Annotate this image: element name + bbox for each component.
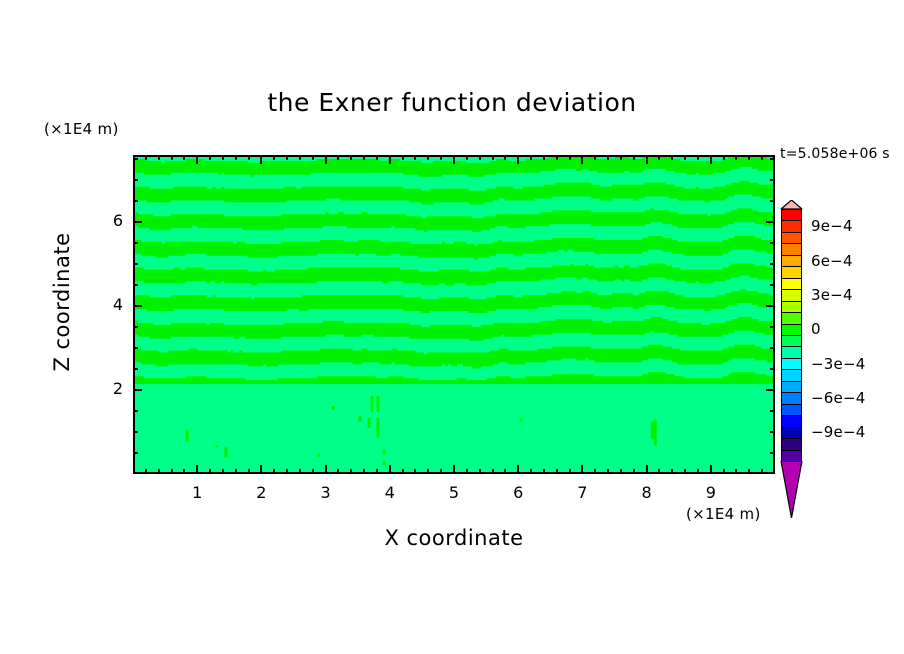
y-tick-minor-right <box>770 410 775 412</box>
x-tick-minor-top <box>350 155 352 160</box>
x-tick-minor-top <box>337 155 339 160</box>
y-tick-minor-right <box>770 326 775 328</box>
x-tick-label: 7 <box>562 483 602 502</box>
y-tick-minor <box>133 200 138 202</box>
x-tick-major <box>646 465 648 474</box>
x-tick-major <box>260 465 262 474</box>
y-axis-unit-label: (×1E4 m) <box>44 120 119 138</box>
y-tick-major-right <box>766 305 775 307</box>
y-tick-label: 2 <box>83 379 123 398</box>
y-tick-major <box>133 221 142 223</box>
x-tick-minor <box>633 469 635 474</box>
x-tick-minor <box>158 469 160 474</box>
x-tick-minor-top <box>183 155 185 160</box>
x-tick-minor-top <box>299 155 301 160</box>
y-tick-minor-right <box>770 242 775 244</box>
x-tick-minor <box>761 469 763 474</box>
x-tick-minor-top <box>697 155 699 160</box>
x-tick-minor-top <box>671 155 673 160</box>
y-tick-major-right <box>766 389 775 391</box>
y-tick-minor-right <box>770 452 775 454</box>
x-tick-major <box>389 465 391 474</box>
x-tick-minor-top <box>684 155 686 160</box>
x-tick-minor <box>556 469 558 474</box>
y-tick-minor <box>133 284 138 286</box>
x-tick-major <box>453 465 455 474</box>
y-tick-minor <box>133 347 138 349</box>
colorbar-top-arrow <box>777 200 806 209</box>
y-tick-major-right <box>766 221 775 223</box>
x-tick-minor-top <box>761 155 763 160</box>
x-tick-label: 2 <box>241 483 281 502</box>
x-tick-minor <box>209 469 211 474</box>
y-tick-major <box>133 305 142 307</box>
colorbar-tick-label: −3e−4 <box>811 355 865 373</box>
x-tick-minor-top <box>312 155 314 160</box>
x-tick-minor <box>658 469 660 474</box>
x-tick-minor-top <box>633 155 635 160</box>
x-tick-minor-top <box>363 155 365 160</box>
page-title: the Exner function deviation <box>0 88 904 117</box>
x-tick-minor <box>620 469 622 474</box>
y-tick-minor <box>133 158 138 160</box>
x-tick-minor <box>183 469 185 474</box>
x-tick-minor-top <box>530 155 532 160</box>
x-tick-minor <box>684 469 686 474</box>
x-tick-minor-top <box>607 155 609 160</box>
x-tick-minor <box>363 469 365 474</box>
y-tick-minor <box>133 263 138 265</box>
x-tick-minor-top <box>504 155 506 160</box>
x-tick-minor <box>504 469 506 474</box>
x-tick-minor <box>402 469 404 474</box>
x-tick-minor-top <box>286 155 288 160</box>
x-tick-minor <box>569 469 571 474</box>
x-tick-minor <box>530 469 532 474</box>
x-tick-minor-top <box>466 155 468 160</box>
y-tick-minor-right <box>770 431 775 433</box>
x-tick-minor <box>492 469 494 474</box>
x-tick-minor <box>427 469 429 474</box>
x-axis-title: X coordinate <box>253 526 655 550</box>
x-tick-label: 9 <box>691 483 731 502</box>
y-tick-minor-right <box>770 179 775 181</box>
x-tick-minor-top <box>620 155 622 160</box>
colorbar-bottom-arrow <box>777 461 806 518</box>
colorbar-tick-label: −6e−4 <box>811 389 865 407</box>
x-tick-minor <box>671 469 673 474</box>
x-tick-minor <box>466 469 468 474</box>
contour-plot-area <box>133 155 775 474</box>
x-tick-minor-top <box>171 155 173 160</box>
x-tick-major-top <box>389 155 391 164</box>
colorbar-tick-label: −9e−4 <box>811 423 865 441</box>
x-tick-major <box>581 465 583 474</box>
y-tick-minor <box>133 368 138 370</box>
x-tick-major-top <box>260 155 262 164</box>
y-tick-label: 6 <box>83 211 123 230</box>
x-tick-minor <box>222 469 224 474</box>
x-tick-label: 5 <box>434 483 474 502</box>
y-tick-minor <box>133 242 138 244</box>
x-tick-minor <box>312 469 314 474</box>
y-tick-minor <box>133 452 138 454</box>
x-tick-major-top <box>646 155 648 164</box>
y-tick-minor-right <box>770 368 775 370</box>
colorbar-tick-label: 9e−4 <box>811 217 853 235</box>
x-tick-minor-top <box>427 155 429 160</box>
x-tick-minor-top <box>209 155 211 160</box>
y-tick-minor <box>133 410 138 412</box>
x-tick-minor-top <box>543 155 545 160</box>
x-tick-major <box>517 465 519 474</box>
x-tick-minor-top <box>145 155 147 160</box>
y-tick-minor <box>133 179 138 181</box>
y-tick-minor-right <box>770 284 775 286</box>
x-tick-minor-top <box>235 155 237 160</box>
colorbar-tick-label: 0 <box>811 320 821 338</box>
y-tick-minor-right <box>770 347 775 349</box>
x-tick-major-top <box>517 155 519 164</box>
y-tick-major <box>133 389 142 391</box>
colorbar-tick-label: 3e−4 <box>811 286 853 304</box>
x-tick-minor <box>350 469 352 474</box>
x-tick-major <box>710 465 712 474</box>
y-tick-minor <box>133 431 138 433</box>
x-tick-minor-top <box>414 155 416 160</box>
x-tick-minor-top <box>273 155 275 160</box>
x-tick-label: 3 <box>306 483 346 502</box>
x-tick-label: 1 <box>177 483 217 502</box>
x-tick-major <box>325 465 327 474</box>
y-axis-title: Z coordinate <box>50 212 74 392</box>
y-tick-minor-right <box>770 158 775 160</box>
x-tick-minor-top <box>222 155 224 160</box>
x-tick-minor-top <box>376 155 378 160</box>
x-tick-minor <box>697 469 699 474</box>
y-tick-minor <box>133 326 138 328</box>
x-tick-minor <box>735 469 737 474</box>
x-tick-minor <box>286 469 288 474</box>
x-tick-minor-top <box>748 155 750 160</box>
x-tick-minor <box>171 469 173 474</box>
x-tick-minor-top <box>556 155 558 160</box>
x-tick-minor <box>337 469 339 474</box>
x-tick-minor-top <box>248 155 250 160</box>
x-tick-major-top <box>581 155 583 164</box>
x-tick-minor <box>748 469 750 474</box>
x-tick-minor <box>273 469 275 474</box>
x-tick-minor-top <box>723 155 725 160</box>
x-tick-minor <box>723 469 725 474</box>
x-tick-minor-top <box>735 155 737 160</box>
x-tick-minor-top <box>402 155 404 160</box>
y-tick-minor-right <box>770 263 775 265</box>
x-tick-minor <box>607 469 609 474</box>
x-tick-minor-top <box>594 155 596 160</box>
timestamp-annotation: t=5.058e+06 s <box>780 146 890 162</box>
x-tick-major-top <box>453 155 455 164</box>
x-tick-major-top <box>710 155 712 164</box>
x-axis-unit-label: (×1E4 m) <box>686 505 761 523</box>
x-tick-minor-top <box>492 155 494 160</box>
x-tick-minor <box>543 469 545 474</box>
x-tick-minor-top <box>658 155 660 160</box>
contour-field <box>135 157 773 472</box>
x-tick-minor-top <box>440 155 442 160</box>
colorbar: 9e−46e−43e−40−3e−4−6e−4−9e−4 <box>777 200 807 518</box>
x-tick-minor <box>440 469 442 474</box>
x-tick-minor <box>376 469 378 474</box>
x-tick-label: 8 <box>627 483 667 502</box>
x-tick-minor <box>479 469 481 474</box>
x-tick-minor <box>594 469 596 474</box>
x-tick-major-top <box>325 155 327 164</box>
x-tick-label: 4 <box>370 483 410 502</box>
x-tick-label: 6 <box>498 483 538 502</box>
x-tick-minor <box>235 469 237 474</box>
x-tick-minor-top <box>569 155 571 160</box>
y-tick-minor-right <box>770 200 775 202</box>
x-tick-minor <box>414 469 416 474</box>
figure-canvas: the Exner function deviation (×1E4 m) (×… <box>0 0 904 654</box>
x-tick-minor <box>145 469 147 474</box>
x-tick-minor-top <box>158 155 160 160</box>
x-tick-minor <box>299 469 301 474</box>
x-tick-minor <box>248 469 250 474</box>
x-tick-major-top <box>196 155 198 164</box>
y-tick-label: 4 <box>83 295 123 314</box>
x-tick-major <box>196 465 198 474</box>
colorbar-tick-label: 6e−4 <box>811 252 853 270</box>
x-tick-minor-top <box>479 155 481 160</box>
